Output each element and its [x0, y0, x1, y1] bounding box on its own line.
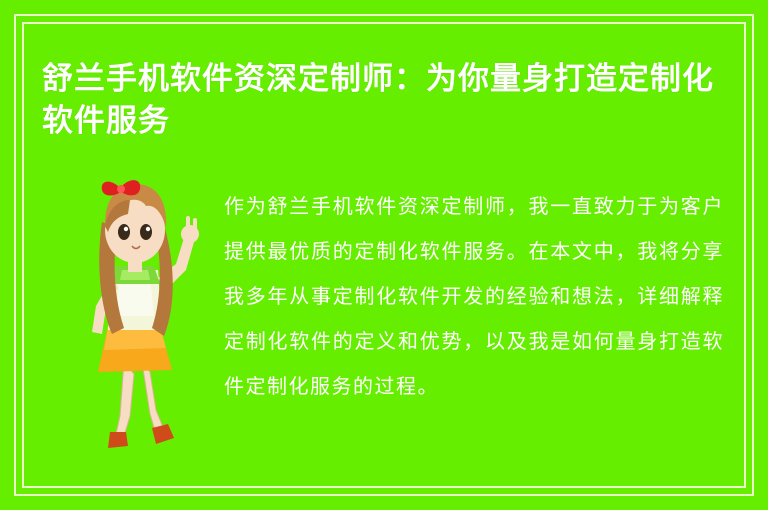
- page-title: 舒兰手机软件资深定制师：为你量身打造定制化软件服务: [42, 58, 732, 142]
- poster-canvas: 舒兰手机软件资深定制师：为你量身打造定制化软件服务: [0, 0, 768, 510]
- cartoon-girl-illustration: [50, 166, 220, 466]
- poster-content: 舒兰手机软件资深定制师：为你量身打造定制化软件服务: [36, 36, 732, 474]
- poster-body: 作为舒兰手机软件资深定制师，我一直致力于为客户提供最优质的定制化软件服务。在本文…: [36, 156, 732, 474]
- body-paragraph: 作为舒兰手机软件资深定制师，我一直致力于为客户提供最优质的定制化软件服务。在本文…: [224, 184, 724, 409]
